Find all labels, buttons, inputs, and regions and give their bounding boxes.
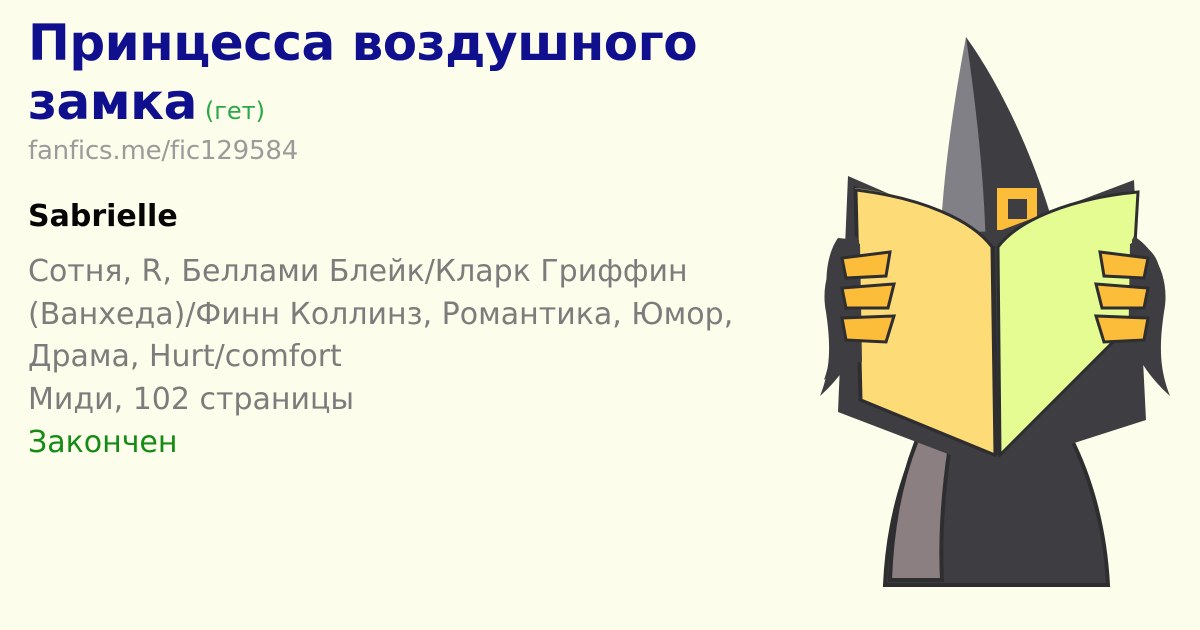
- page-title: Принцесса воздушного замка: [28, 14, 697, 131]
- wizard-reading-book-illustration: [790, 0, 1200, 630]
- wizard-hat: [852, 37, 1120, 288]
- open-book: [838, 176, 1146, 470]
- right-hand: [1096, 236, 1170, 396]
- meta-line-length: Миди, 102 страницы: [28, 379, 798, 422]
- text-column: Принцесса воздушного замка(гет) fanfics.…: [28, 14, 818, 464]
- left-hand: [820, 236, 902, 396]
- hat-buckle-icon: [997, 188, 1037, 230]
- category-tag: (гет): [205, 97, 265, 125]
- fanfic-preview-card: Принцесса воздушного замка(гет) fanfics.…: [0, 0, 1200, 630]
- source-url[interactable]: fanfics.me/fic129584: [28, 136, 818, 167]
- author-name[interactable]: Sabrielle: [28, 199, 818, 235]
- fanfic-meta: Сотня, R, Беллами Блейк/Кларк Гриффин (В…: [28, 251, 798, 464]
- robe-shape: [885, 355, 1108, 585]
- meta-line-fandom-tags: Сотня, R, Беллами Блейк/Кларк Гриффин (В…: [28, 251, 798, 379]
- status-badge: Закончен: [28, 422, 798, 465]
- title-block: Принцесса воздушного замка(гет): [28, 14, 818, 132]
